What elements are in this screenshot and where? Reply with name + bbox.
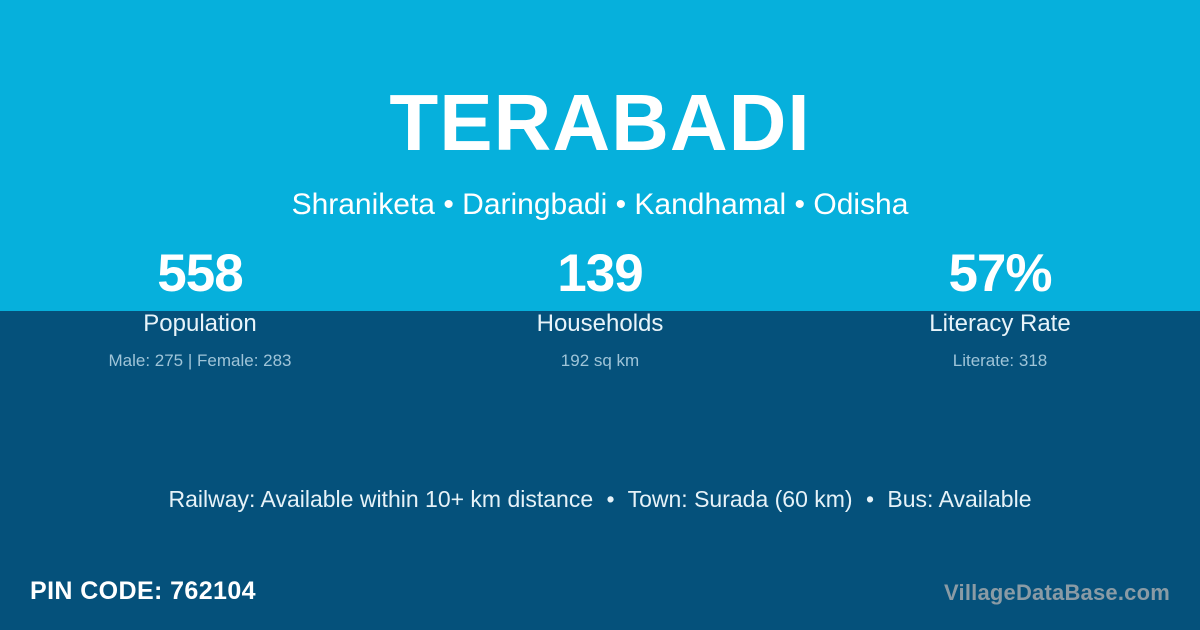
stat-value: 139 bbox=[400, 244, 800, 303]
footer: PIN CODE: 762104 VillageDataBase.com bbox=[0, 572, 1200, 630]
stat-value: 57% bbox=[800, 244, 1200, 303]
transport-railway: Railway: Available within 10+ km distanc… bbox=[168, 486, 593, 512]
stat-households: 139 Households 192 sq km bbox=[400, 244, 800, 369]
stat-label: Households bbox=[400, 312, 800, 336]
stat-sublabel: Literate: 318 bbox=[800, 352, 1200, 369]
transport-town: Town: Surada (60 km) bbox=[628, 486, 853, 512]
pin-code: PIN CODE: 762104 bbox=[30, 576, 256, 606]
transport-info: Railway: Available within 10+ km distanc… bbox=[0, 486, 1200, 514]
stat-label: Literacy Rate bbox=[800, 312, 1200, 336]
transport-separator-2: • bbox=[859, 486, 881, 512]
breadcrumb: Shraniketa • Daringbadi • Kandhamal • Od… bbox=[0, 190, 1200, 220]
stat-literacy-rate: 57% Literacy Rate Literate: 318 bbox=[800, 244, 1200, 369]
stat-label: Population bbox=[0, 312, 400, 336]
stat-value: 558 bbox=[0, 244, 400, 303]
transport-separator-1: • bbox=[600, 486, 622, 512]
stat-sublabel: Male: 275 | Female: 283 bbox=[0, 352, 400, 369]
site-watermark: VillageDataBase.com bbox=[944, 580, 1170, 606]
stats-row: 558 Population Male: 275 | Female: 283 1… bbox=[0, 244, 1200, 369]
hero-section: TERABADI Shraniketa • Daringbadi • Kandh… bbox=[0, 0, 1200, 220]
transport-bus: Bus: Available bbox=[887, 486, 1031, 512]
stat-population: 558 Population Male: 275 | Female: 283 bbox=[0, 244, 400, 369]
stat-sublabel: 192 sq km bbox=[400, 352, 800, 369]
page-title: TERABADI bbox=[0, 83, 1200, 163]
village-info-card: TERABADI Shraniketa • Daringbadi • Kandh… bbox=[0, 0, 1200, 630]
